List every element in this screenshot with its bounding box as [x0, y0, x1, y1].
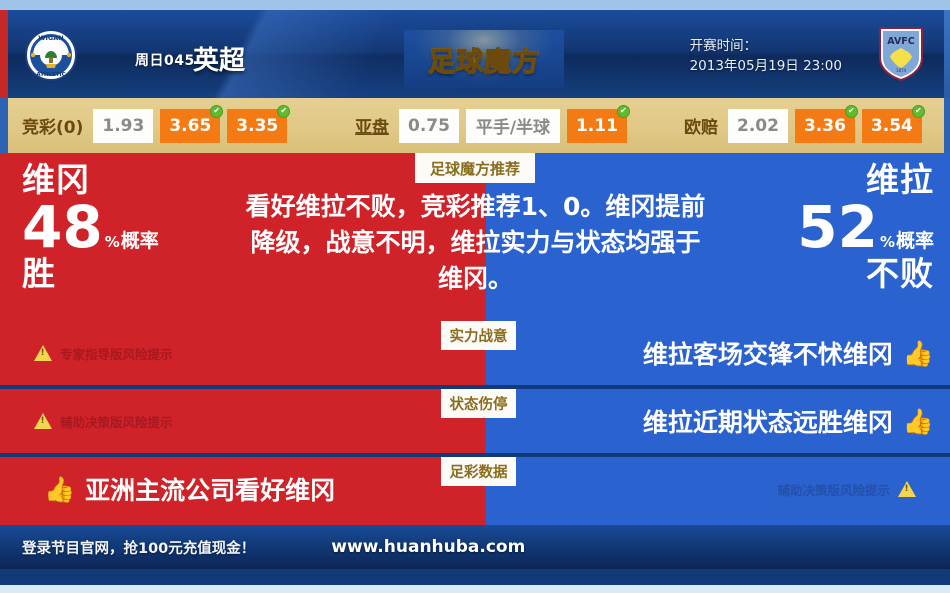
odds-cell-value: 0.75 — [408, 116, 450, 136]
odds-cell[interactable]: 1.93 — [93, 109, 153, 143]
row-away-panel: 维拉近期状态远胜维冈👍 — [486, 389, 950, 453]
home-probability: 维冈 48 % 概率 胜 — [22, 163, 159, 290]
odds-cell[interactable]: 3.35✔ — [227, 109, 287, 143]
brand-logo: 足球魔方 — [404, 30, 564, 88]
away-percent-sign: % — [880, 235, 895, 250]
brand-logo-text: 足球魔方 — [428, 40, 540, 79]
home-outcome: 胜 — [22, 257, 159, 290]
odds-group-title: 竞彩(0) — [22, 113, 83, 138]
warning-icon — [34, 413, 52, 429]
claim-away-text: 维拉近期状态远胜维冈 — [643, 403, 893, 439]
row-away-panel: 辅助决策版风险提示 — [486, 457, 950, 521]
away-probability-unit: 概率 — [896, 232, 934, 251]
risk-notice-text: 辅助决策版风险提示 — [777, 480, 890, 499]
odds-cell-value: 1.93 — [102, 116, 144, 136]
footer-accent-blue — [486, 521, 950, 525]
odds-cell-value: 3.36 — [804, 116, 846, 136]
row-category-tag: 实力战意 — [441, 321, 516, 350]
odds-cell[interactable]: 2.02 — [728, 109, 788, 143]
comparison-row: 专家指导版风险提示维拉客场交锋不怵维冈👍实力战意 — [0, 321, 950, 385]
svg-text:1874: 1874 — [896, 68, 907, 73]
away-probability: 维拉 52 % 概率 不败 — [797, 163, 934, 290]
odds-cell[interactable]: 0.75 — [399, 109, 459, 143]
odds-cell-value: 3.65 — [169, 116, 211, 136]
footer-accent-line — [0, 521, 950, 525]
kickoff-label: 开赛时间： — [690, 36, 842, 56]
odds-cell-value: 1.11 — [576, 116, 618, 136]
claim-home: 👍亚洲主流公司看好维冈 — [44, 471, 335, 507]
odds-cell-value: 平手/半球 — [476, 113, 550, 138]
home-probability-unit: 概率 — [121, 232, 159, 251]
footer-bar: 登录节目官网，抢100元充值现金！ www.huanhuba.com — [0, 525, 950, 569]
warning-icon — [898, 481, 916, 497]
home-team-crest-icon: WIGAN ATHLETIC — [24, 28, 78, 82]
row-home-panel: 辅助决策版风险提示 — [0, 389, 486, 453]
claim-away: 维拉近期状态远胜维冈👍 — [643, 403, 934, 439]
prediction-hero: 维冈 48 % 概率 胜 维拉 52 % 概率 不败 足球魔方推荐 看好 — [0, 153, 950, 321]
svg-text:ATHLETIC: ATHLETIC — [36, 72, 65, 78]
away-team-crest-icon: AVFC 1874 — [874, 24, 928, 78]
odds-cell-value: 3.35 — [236, 116, 278, 136]
odds-cell[interactable]: 3.36✔ — [795, 109, 855, 143]
thumbs-up-icon: 👍 — [903, 341, 934, 366]
footer-promo-text: 登录节目官网，抢100元充值现金！ — [22, 537, 255, 558]
row-away-panel: 维拉客场交锋不怵维冈👍 — [486, 321, 950, 385]
claim-away-text: 维拉客场交锋不怵维冈 — [643, 335, 893, 371]
claim-away: 维拉客场交锋不怵维冈👍 — [643, 335, 934, 371]
broadcast-graphic: WIGAN ATHLETIC AVFC 1874 周日045 英超 足球魔方 开… — [0, 10, 950, 585]
check-icon: ✔ — [210, 105, 223, 118]
odds-group-title: 亚盘 — [355, 113, 389, 138]
odds-bar-left-edge — [0, 98, 8, 153]
risk-notice-text: 专家指导版风险提示 — [60, 344, 173, 363]
check-icon: ✔ — [912, 105, 925, 118]
home-percent-sign: % — [105, 235, 120, 250]
odds-bar-right-edge — [944, 98, 950, 153]
odds-cell[interactable]: 3.54✔ — [862, 109, 922, 143]
check-icon: ✔ — [277, 105, 290, 118]
away-probability-value: 52 — [797, 200, 878, 255]
recommendation-text: 看好维拉不败，竞彩推荐1、0。维冈提前降级，战意不明，维拉实力与状态均强于维冈。 — [243, 189, 708, 297]
risk-notice-left: 辅助决策版风险提示 — [34, 412, 173, 431]
odds-cell[interactable]: 1.11✔ — [567, 109, 627, 143]
check-icon: ✔ — [845, 105, 858, 118]
odds-group-asian: 亚盘0.75平手/半球1.11✔ — [355, 109, 627, 143]
claim-home-text: 亚洲主流公司看好维冈 — [85, 471, 335, 507]
odds-cell[interactable]: 3.65✔ — [160, 109, 220, 143]
warning-icon — [34, 345, 52, 361]
odds-group-euro: 欧赔2.023.36✔3.54✔ — [684, 109, 922, 143]
risk-notice-right: 辅助决策版风险提示 — [777, 480, 916, 499]
svg-text:WIGAN: WIGAN — [38, 34, 63, 42]
footer-accent-red — [0, 521, 486, 525]
league-name: 英超 — [193, 40, 245, 77]
comparison-rows: 专家指导版风险提示维拉客场交锋不怵维冈👍实力战意辅助决策版风险提示维拉近期状态远… — [0, 321, 950, 521]
match-number: 周日045 — [135, 50, 195, 70]
odds-cell-value: 2.02 — [737, 116, 779, 136]
away-outcome: 不败 — [797, 257, 934, 290]
row-category-tag: 状态伤停 — [441, 389, 516, 418]
row-category-tag: 足彩数据 — [441, 457, 516, 486]
header-left-accent — [0, 10, 8, 98]
odds-bar: 竞彩(0)1.933.65✔3.35✔ 亚盘0.75平手/半球1.11✔ 欧赔2… — [0, 98, 950, 153]
risk-notice-text: 辅助决策版风险提示 — [60, 412, 173, 431]
home-probability-value: 48 — [22, 200, 103, 255]
odds-cell[interactable]: 平手/半球 — [466, 109, 560, 143]
odds-group-jingcai: 竞彩(0)1.933.65✔3.35✔ — [22, 109, 287, 143]
risk-notice-left: 专家指导版风险提示 — [34, 344, 173, 363]
footer-site-url[interactable]: www.huanhuba.com — [331, 537, 525, 557]
thumbs-up-icon: 👍 — [903, 409, 934, 434]
recommendation-tag: 足球魔方推荐 — [415, 153, 535, 183]
svg-text:AVFC: AVFC — [887, 36, 915, 47]
row-home-panel: 专家指导版风险提示 — [0, 321, 486, 385]
match-header: WIGAN ATHLETIC AVFC 1874 周日045 英超 足球魔方 开… — [0, 10, 950, 98]
kickoff-time: 开赛时间： 2013年05月19日 23:00 — [690, 36, 842, 76]
comparison-row: 辅助决策版风险提示维拉近期状态远胜维冈👍状态伤停 — [0, 389, 950, 453]
comparison-row: 👍亚洲主流公司看好维冈辅助决策版风险提示足彩数据 — [0, 457, 950, 521]
header-right-accent — [944, 10, 950, 98]
check-icon: ✔ — [617, 105, 630, 118]
odds-group-title: 欧赔 — [684, 113, 718, 138]
away-team-name: 维拉 — [797, 163, 934, 196]
row-home-panel: 👍亚洲主流公司看好维冈 — [0, 457, 486, 521]
odds-cell-value: 3.54 — [871, 116, 913, 136]
home-team-name: 维冈 — [22, 163, 159, 196]
thumbs-up-icon: 👍 — [44, 477, 75, 502]
kickoff-value: 2013年05月19日 23:00 — [690, 56, 842, 76]
